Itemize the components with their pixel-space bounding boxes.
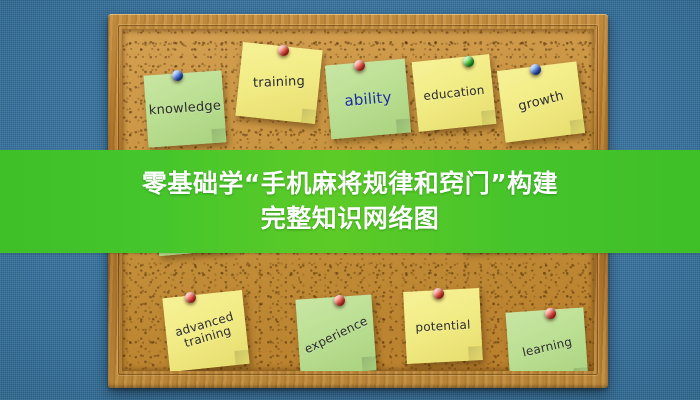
- page-title: 零基础学“手机麻将规律和窍门”构建 完整知识网络图: [20, 167, 680, 236]
- pin-red-experience: [334, 295, 345, 306]
- pin-green-education: [463, 56, 474, 67]
- title-line-2: 完整知识网络图: [20, 202, 680, 237]
- pin-blue-growth: [530, 64, 541, 75]
- sticky-note-knowledge[interactable]: knowledge: [144, 70, 227, 147]
- note-fold: [481, 110, 496, 125]
- sticky-note-label: advanced training: [174, 310, 239, 351]
- title-line-1: 零基础学“手机麻将规律和窍门”构建: [20, 167, 680, 202]
- note-fold: [396, 118, 411, 133]
- pin-red-ability: [354, 60, 365, 71]
- pin-blue-knowledge: [172, 70, 183, 81]
- pin-red-learning: [545, 308, 556, 319]
- sticky-note-label: knowledge: [148, 99, 221, 118]
- note-fold: [301, 109, 316, 124]
- pin-red-potential: [433, 288, 444, 299]
- sticky-note-potential[interactable]: potential: [403, 288, 483, 364]
- sticky-note-label: training: [253, 75, 305, 91]
- pin-red-advanced-training: [185, 292, 196, 303]
- title-banner: 零基础学“手机麻将规律和窍门”构建 完整知识网络图: [0, 150, 700, 253]
- note-fold: [234, 350, 249, 365]
- sticky-note-label: ability: [344, 89, 393, 109]
- note-fold: [574, 367, 589, 371]
- image-canvas: knowledge training ability education: [0, 0, 700, 400]
- sticky-note-label: experience: [302, 314, 369, 356]
- note-fold: [211, 128, 226, 143]
- sticky-note-label: education: [423, 83, 485, 102]
- sticky-note-label: growth: [517, 90, 565, 115]
- note-fold: [569, 119, 585, 135]
- sticky-note-advanced-training[interactable]: advanced training: [162, 290, 249, 371]
- sticky-note-label: potential: [415, 318, 471, 334]
- note-fold: [362, 356, 377, 371]
- sticky-note-label: learning: [521, 335, 573, 359]
- sticky-note-education[interactable]: education: [412, 54, 497, 132]
- sticky-note-growth[interactable]: growth: [497, 61, 585, 142]
- sticky-note-ability[interactable]: ability: [325, 59, 411, 140]
- sticky-note-experience[interactable]: experience: [295, 294, 376, 371]
- note-fold: [468, 346, 483, 361]
- pin-red-training: [278, 45, 289, 56]
